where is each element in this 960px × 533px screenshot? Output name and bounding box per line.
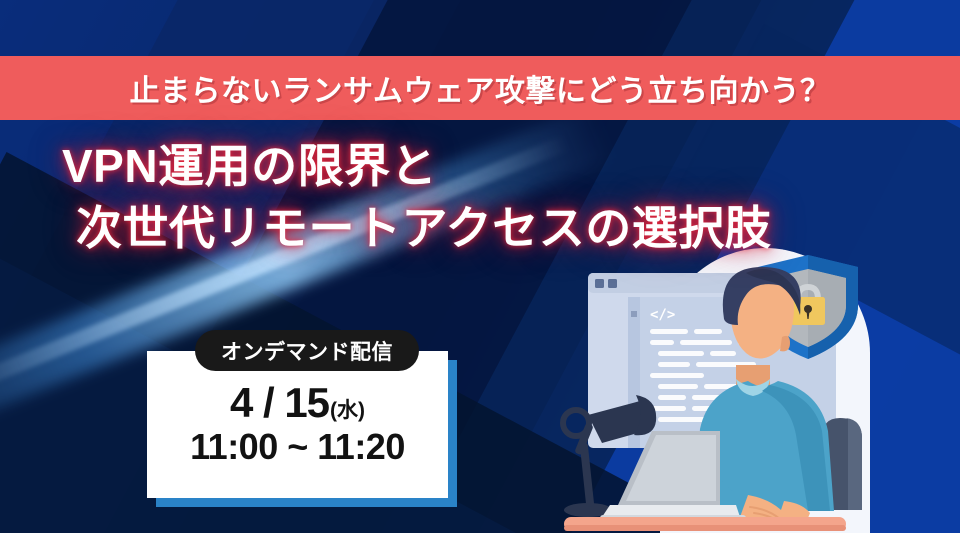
schedule-date: 4 / 15 (水) — [230, 382, 365, 424]
schedule-date-value: 4 / 15 — [230, 382, 329, 424]
title-line-1: VPN運用の限界と — [62, 136, 912, 198]
developer-at-desk-illustration: </> — [540, 233, 960, 533]
page-title: VPN運用の限界と 次世代リモートアクセスの選択肢 — [62, 136, 912, 259]
on-demand-badge: オンデマンド配信 — [195, 330, 419, 371]
schedule-time: 11:00 ~ 11:20 — [190, 426, 405, 467]
webinar-banner: </> — [0, 0, 960, 533]
on-demand-badge-label: オンデマンド配信 — [221, 336, 393, 366]
kicker-text: 止まらないランサムウェア攻撃にどう立ち向かう？ — [130, 66, 831, 110]
title-line-2: 次世代リモートアクセスの選択肢 — [62, 198, 912, 260]
kicker-banner: 止まらないランサムウェア攻撃にどう立ち向かう？ — [0, 56, 960, 120]
desk-surface-graphic — [564, 517, 846, 531]
schedule-card-body: 4 / 15 (水) 11:00 ~ 11:20 — [147, 351, 448, 498]
schedule-day-of-week: (水) — [330, 400, 365, 421]
svg-text:</>: </> — [650, 307, 675, 323]
schedule-card: 4 / 15 (水) 11:00 ~ 11:20 — [147, 351, 448, 498]
